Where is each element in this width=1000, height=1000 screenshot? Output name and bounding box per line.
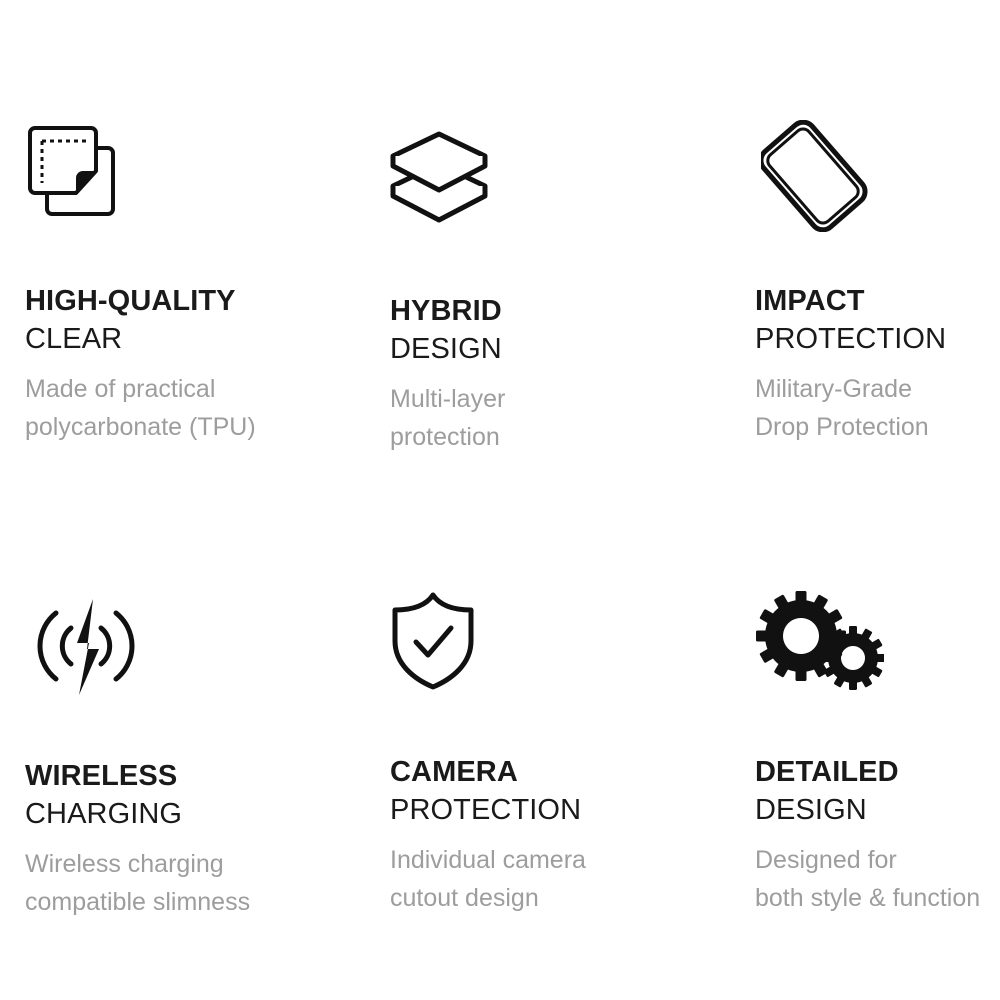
feature-item-camera-protection: CAMERA PROTECTION Individual camera cuto… [390,585,720,917]
gears-icon [755,591,1000,701]
feature-description-line-2: both style & function [755,879,1000,917]
feature-description: Made of practical polycarbonate (TPU) [25,370,355,446]
feature-description-line-1: Multi-layer [390,380,720,418]
layers-stack-icon [390,130,720,240]
feature-title-strong: DETAILED [755,753,1000,791]
feature-title: HYBRID DESIGN [390,292,720,368]
feature-description-line-2: protection [390,418,720,456]
feature-title-light: DESIGN [390,330,720,368]
tilted-phone-case-icon [755,120,1000,230]
feature-description-line-1: Wireless charging [25,845,355,883]
feature-title: WIRELESS CHARGING [25,757,355,833]
feature-title-light: PROTECTION [755,320,1000,358]
feature-description-line-2: compatible slimness [25,883,355,921]
feature-description: Wireless charging compatible slimness [25,845,355,921]
feature-title: HIGH-QUALITY CLEAR [25,282,355,358]
feature-title-light: PROTECTION [390,791,720,829]
feature-description-line-2: polycarbonate (TPU) [25,408,355,446]
feature-title-light: CHARGING [25,795,355,833]
screen-protector-film-icon [25,120,355,230]
feature-title-strong: WIRELESS [25,757,355,795]
feature-title: CAMERA PROTECTION [390,753,720,829]
feature-grid: HIGH-QUALITY CLEAR Made of practical pol… [0,0,1000,1000]
feature-item-high-quality-clear: HIGH-QUALITY CLEAR Made of practical pol… [25,120,355,446]
feature-description-line-1: Military-Grade [755,370,1000,408]
feature-title-strong: HYBRID [390,292,720,330]
feature-description: Individual camera cutout design [390,841,720,917]
feature-description-line-1: Made of practical [25,370,355,408]
feature-title-strong: IMPACT [755,282,1000,320]
feature-description: Designed for both style & function [755,841,1000,917]
feature-item-wireless-charging: WIRELESS CHARGING Wireless charging comp… [25,585,355,921]
feature-description: Military-Grade Drop Protection [755,370,1000,446]
feature-title-strong: CAMERA [390,753,720,791]
feature-description-line-2: cutout design [390,879,720,917]
wireless-charging-icon [25,595,355,705]
feature-item-impact-protection: IMPACT PROTECTION Military-Grade Drop Pr… [755,120,1000,446]
feature-title: DETAILED DESIGN [755,753,1000,829]
feature-title-light: CLEAR [25,320,355,358]
feature-title-light: DESIGN [755,791,1000,829]
feature-description: Multi-layer protection [390,380,720,456]
feature-title-strong: HIGH-QUALITY [25,282,355,320]
feature-description-line-2: Drop Protection [755,408,1000,446]
feature-title: IMPACT PROTECTION [755,282,1000,358]
shield-check-icon [390,591,720,701]
feature-description-line-1: Designed for [755,841,1000,879]
feature-description-line-1: Individual camera [390,841,720,879]
feature-item-hybrid-design: HYBRID DESIGN Multi-layer protection [390,120,720,456]
feature-item-detailed-design: DETAILED DESIGN Designed for both style … [755,585,1000,917]
